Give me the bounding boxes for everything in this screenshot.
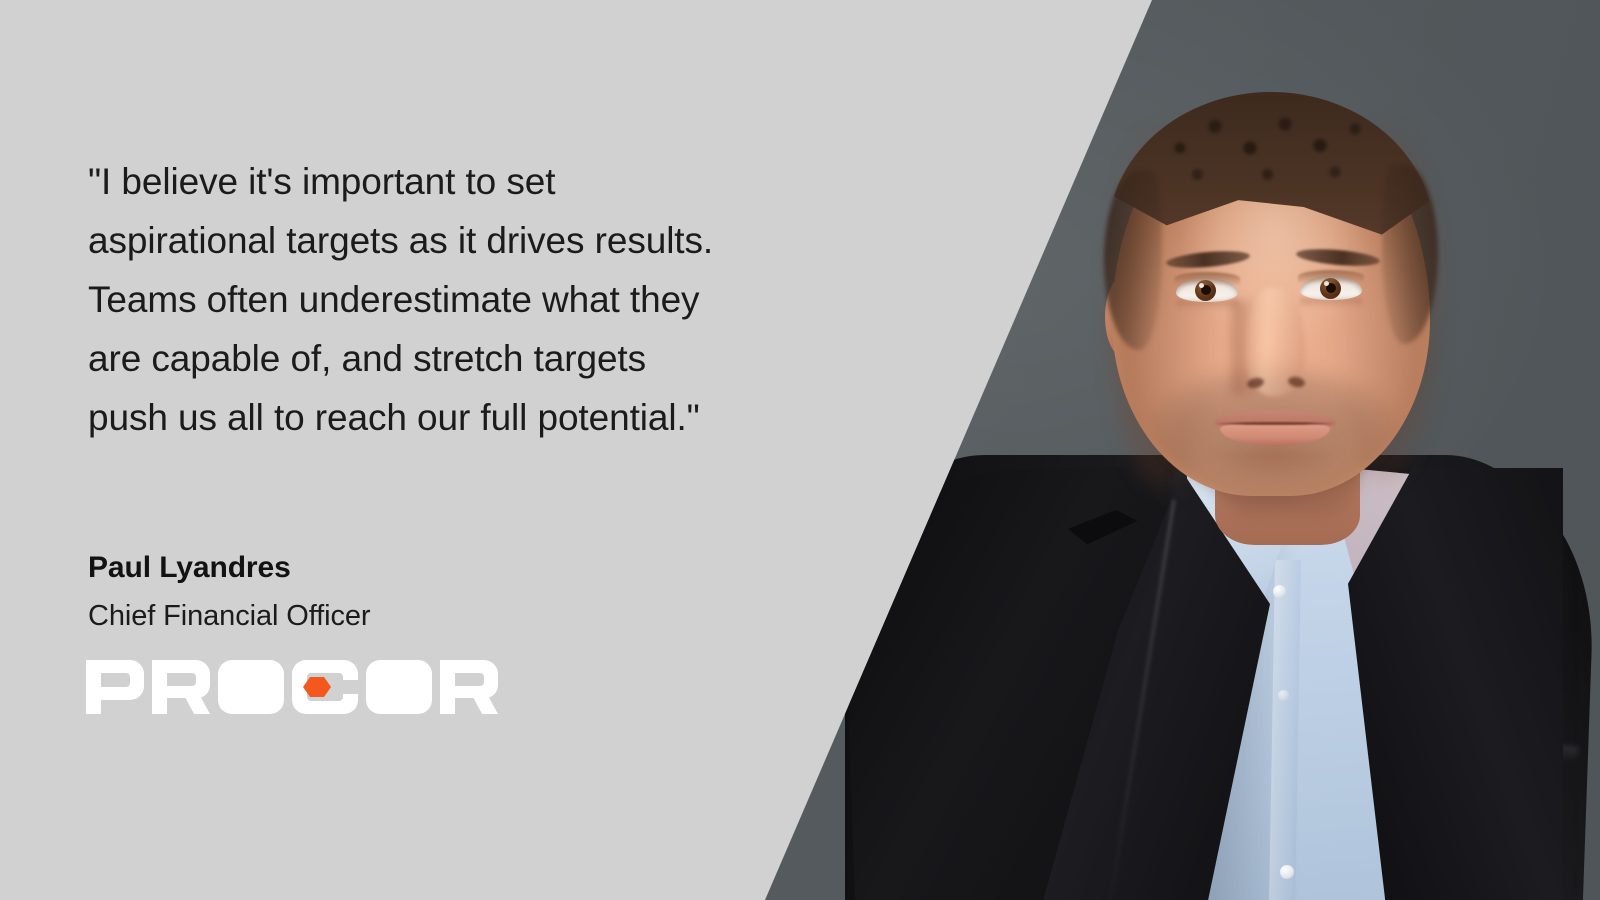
quote-line: Teams often underestimate what they xyxy=(88,270,828,329)
logo-hexagon-accent xyxy=(303,677,331,697)
logo-letter-o xyxy=(218,660,284,714)
quote-line: aspirational targets as it drives result… xyxy=(88,211,828,270)
quote-line: "I believe it's important to set xyxy=(88,152,828,211)
logo-letter-r2 xyxy=(440,660,498,714)
mouth-line xyxy=(1216,422,1334,425)
under-eye-shadow xyxy=(1300,298,1362,308)
eye-left xyxy=(1176,278,1238,302)
procore-logo xyxy=(86,660,502,714)
person-name: Paul Lyandres xyxy=(88,548,370,588)
person-title: Chief Financial Officer xyxy=(88,596,370,636)
eye-right xyxy=(1300,276,1362,300)
logo-letter-o2 xyxy=(366,660,432,714)
jacket-lapel-right xyxy=(1348,468,1563,900)
attribution-block: Paul Lyandres Chief Financial Officer xyxy=(88,548,370,636)
under-eye-shadow xyxy=(1176,300,1238,310)
chin-shadow xyxy=(1205,450,1345,484)
eyelid xyxy=(1174,272,1240,285)
logo-letter-p xyxy=(86,660,144,714)
shirt-button-top xyxy=(1273,585,1286,598)
quote-line: push us all to reach our full potential.… xyxy=(88,388,828,447)
quote-line: are capable of, and stretch targets xyxy=(88,329,828,388)
logo-letter-r xyxy=(152,660,210,714)
shirt-button-lower xyxy=(1280,865,1294,879)
eyelid xyxy=(1298,270,1364,283)
quote-text: "I believe it's important to set aspirat… xyxy=(88,152,828,447)
testimonial-content: "I believe it's important to set aspirat… xyxy=(0,0,860,900)
hair-texture xyxy=(1150,100,1400,220)
testimonial-card: "I believe it's important to set aspirat… xyxy=(0,0,1600,900)
shirt-button-middle xyxy=(1278,690,1289,701)
